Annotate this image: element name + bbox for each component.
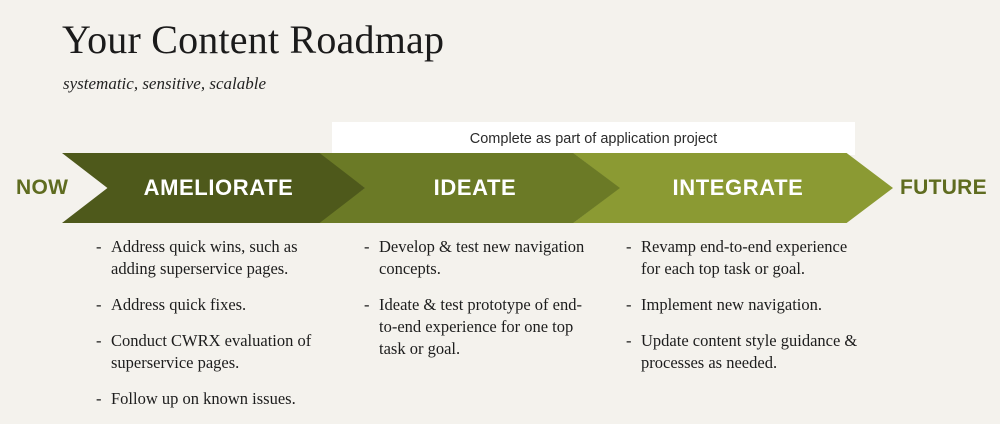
bullet-marker: - (626, 294, 641, 316)
list-item: - Implement new navigation. (626, 294, 858, 316)
bullet-text: Develop & test new navigation concepts. (379, 236, 592, 280)
stage-bullets-ideate: - Develop & test new navigation concepts… (364, 236, 592, 374)
stage-bullets-ameliorate: - Address quick wins, such as adding sup… (96, 236, 344, 424)
timeline-chevron-band: NOW AMELIORATE IDEATE INTEGRATE FUTURE (0, 153, 1000, 223)
stage-detail-columns: - Address quick wins, such as adding sup… (0, 236, 1000, 406)
bullet-text: Implement new navigation. (641, 294, 858, 316)
page-subtitle: systematic, sensitive, scalable (63, 74, 266, 94)
bullet-text: Revamp end-to-end experience for each to… (641, 236, 858, 280)
bullet-text: Address quick wins, such as adding super… (111, 236, 344, 280)
callout-banner: Complete as part of application project (332, 122, 855, 155)
list-item: - Address quick wins, such as adding sup… (96, 236, 344, 280)
bullet-marker: - (96, 388, 111, 410)
bullet-marker: - (364, 236, 379, 258)
bullet-marker: - (96, 330, 111, 352)
timeline-stage-label: IDEATE (434, 175, 517, 201)
timeline-start-label: NOW (16, 153, 68, 223)
list-item: - Develop & test new navigation concepts… (364, 236, 592, 280)
timeline-stage-ameliorate[interactable]: AMELIORATE (62, 153, 365, 223)
timeline-stage-label: AMELIORATE (144, 175, 294, 201)
bullet-marker: - (626, 236, 641, 258)
bullet-marker: - (96, 236, 111, 258)
bullet-text: Address quick fixes. (111, 294, 344, 316)
page-title: Your Content Roadmap (62, 18, 444, 62)
stage-bullets-integrate: - Revamp end-to-end experience for each … (626, 236, 858, 388)
bullet-text: Follow up on known issues. (111, 388, 344, 410)
roadmap-page: Your Content Roadmap systematic, sensiti… (0, 0, 1000, 413)
bullet-text: Ideate & test prototype of end-to-end ex… (379, 294, 592, 360)
list-item: - Follow up on known issues. (96, 388, 344, 410)
timeline-end-label: FUTURE (900, 153, 987, 223)
bullet-marker: - (96, 294, 111, 316)
list-item: - Address quick fixes. (96, 294, 344, 316)
bullet-text: Update content style guidance & processe… (641, 330, 858, 374)
list-item: - Update content style guidance & proces… (626, 330, 858, 374)
bullet-marker: - (364, 294, 379, 316)
bullet-text: Conduct CWRX evaluation of superservice … (111, 330, 344, 374)
list-item: - Ideate & test prototype of end-to-end … (364, 294, 592, 360)
callout-banner-label: Complete as part of application project (470, 131, 717, 147)
list-item: - Conduct CWRX evaluation of superservic… (96, 330, 344, 374)
list-item: - Revamp end-to-end experience for each … (626, 236, 858, 280)
bullet-marker: - (626, 330, 641, 352)
timeline-stage-label: INTEGRATE (673, 175, 804, 201)
timeline-stage-integrate[interactable]: INTEGRATE (573, 153, 893, 223)
